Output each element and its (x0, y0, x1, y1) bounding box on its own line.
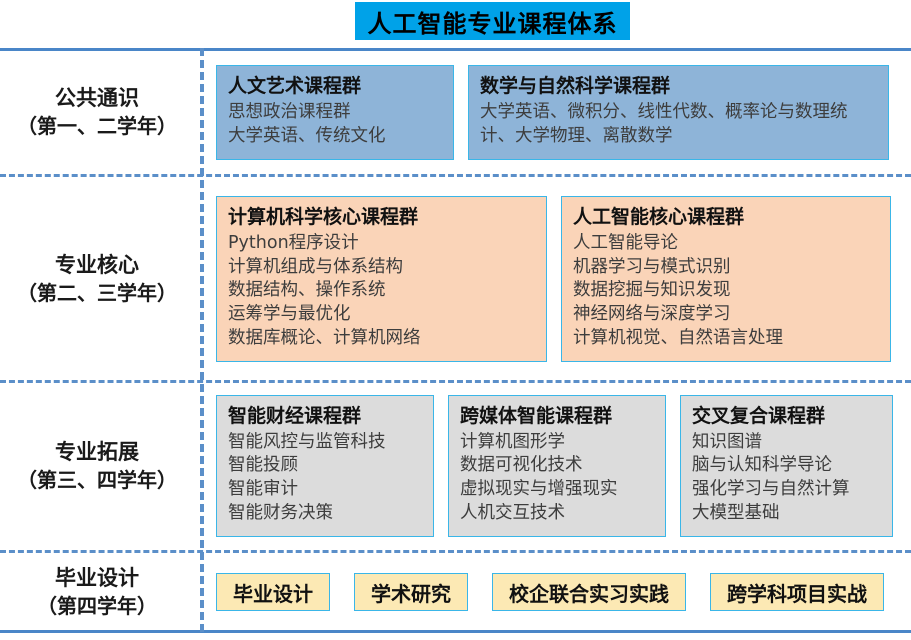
stage-row-professional-core: 专业核心 （第二、三学年） 计算机科学核心课程群 Python程序设计 计算机组… (0, 180, 911, 378)
card-course-line: 智能投顾 (228, 454, 422, 478)
stage-name: 专业拓展 (55, 440, 139, 464)
card-heading: 跨媒体智能课程群 (460, 404, 654, 429)
stage-name: 公共通识 (55, 86, 139, 110)
stage-years: （第四学年） (0, 593, 194, 621)
capstone-chip-academic-research[interactable]: 学术研究 (354, 573, 468, 611)
card-course-line: 计算机视觉、自然语言处理 (573, 327, 879, 351)
course-group-card-interdisciplinary[interactable]: 交叉复合课程群 知识图谱 脑与认知科学导论 强化学习与自然计算 大模型基础 (680, 395, 893, 537)
card-course-line: 计算机图形学 (460, 431, 654, 455)
card-course-line: 数据结构、操作系统 (228, 279, 535, 303)
stage-years: （第一、二学年） (0, 113, 194, 141)
stage-label-general-education: 公共通识 （第一、二学年） (0, 84, 200, 141)
course-group-card-computer-science-core[interactable]: 计算机科学核心课程群 Python程序设计 计算机组成与体系结构 数据结构、操作… (216, 196, 547, 361)
card-course-line: 大学英语、传统文化 (228, 125, 442, 149)
stage-name: 专业核心 (55, 253, 139, 277)
card-course-line: 智能财务决策 (228, 502, 422, 526)
card-course-line: 思想政治课程群 (228, 101, 442, 125)
stage-years: （第二、三学年） (0, 280, 194, 308)
card-course-line: 计算机组成与体系结构 (228, 256, 535, 280)
card-course-line: 大学英语、微积分、线性代数、概率论与数理统计、大学物理、离散数学 (480, 101, 877, 149)
card-course-line: 智能审计 (228, 478, 422, 502)
capstone-chip-graduation-project[interactable]: 毕业设计 (216, 573, 330, 611)
stage-label-professional-extension: 专业拓展 （第三、四学年） (0, 438, 200, 495)
card-course-line: 人工智能导论 (573, 232, 879, 256)
card-heading: 人文艺术课程群 (228, 74, 442, 99)
card-heading: 人工智能核心课程群 (573, 205, 879, 230)
rule-between-row2-row3 (0, 380, 911, 383)
course-group-card-ai-core[interactable]: 人工智能核心课程群 人工智能导论 机器学习与模式识别 数据挖掘与知识发现 神经网… (561, 196, 891, 361)
card-course-line: 知识图谱 (692, 431, 881, 455)
chip-list-capstone: 毕业设计 学术研究 校企联合实习实践 跨学科项目实战 (200, 573, 911, 611)
rule-bottom (0, 630, 911, 633)
card-course-line: 数据可视化技术 (460, 454, 654, 478)
course-group-card-math-natural-science[interactable]: 数学与自然科学课程群 大学英语、微积分、线性代数、概率论与数理统计、大学物理、离… (468, 65, 889, 159)
stage-years: （第三、四学年） (0, 467, 194, 495)
card-heading: 交叉复合课程群 (692, 404, 881, 429)
card-heading: 计算机科学核心课程群 (228, 205, 535, 230)
card-course-line: 运筹学与最优化 (228, 303, 535, 327)
stage-name: 毕业设计 (55, 566, 139, 590)
rule-between-row1-row2 (0, 174, 911, 177)
course-group-card-cross-media-intelligence[interactable]: 跨媒体智能课程群 计算机图形学 数据可视化技术 虚拟现实与增强现实 人机交互技术 (448, 395, 666, 537)
capstone-chip-interdisciplinary-project[interactable]: 跨学科项目实战 (710, 573, 884, 611)
card-course-line: 神经网络与深度学习 (573, 303, 879, 327)
course-group-card-humanities-arts[interactable]: 人文艺术课程群 思想政治课程群 大学英语、传统文化 (216, 65, 454, 159)
rule-between-row3-row4 (0, 550, 911, 553)
card-course-line: Python程序设计 (228, 232, 535, 256)
card-course-line: 机器学习与模式识别 (573, 256, 879, 280)
diagram-title: 人工智能专业课程体系 (355, 2, 630, 40)
card-course-line: 强化学习与自然计算 (692, 478, 881, 502)
card-list-professional-extension: 智能财经课程群 智能风控与监管科技 智能投顾 智能审计 智能财务决策 跨媒体智能… (200, 395, 911, 537)
stage-row-professional-extension: 专业拓展 （第三、四学年） 智能财经课程群 智能风控与监管科技 智能投顾 智能审… (0, 385, 911, 547)
card-heading: 智能财经课程群 (228, 404, 422, 429)
card-course-line: 大模型基础 (692, 502, 881, 526)
capstone-chip-industry-internship[interactable]: 校企联合实习实践 (492, 573, 686, 611)
card-course-line: 数据库概论、计算机网络 (228, 327, 535, 351)
card-course-line: 虚拟现实与增强现实 (460, 478, 654, 502)
card-list-general-education: 人文艺术课程群 思想政治课程群 大学英语、传统文化 数学与自然科学课程群 大学英… (200, 65, 911, 159)
card-course-line: 数据挖掘与知识发现 (573, 279, 879, 303)
card-course-line: 智能风控与监管科技 (228, 431, 422, 455)
stage-label-professional-core: 专业核心 （第二、三学年） (0, 251, 200, 308)
stage-label-capstone: 毕业设计 （第四学年） (0, 564, 200, 621)
course-group-card-intelligent-finance[interactable]: 智能财经课程群 智能风控与监管科技 智能投顾 智能审计 智能财务决策 (216, 395, 434, 537)
stage-row-capstone: 毕业设计 （第四学年） 毕业设计 学术研究 校企联合实习实践 跨学科项目实战 (0, 556, 911, 628)
card-list-professional-core: 计算机科学核心课程群 Python程序设计 计算机组成与体系结构 数据结构、操作… (200, 196, 911, 361)
card-heading: 数学与自然科学课程群 (480, 74, 877, 99)
curriculum-diagram: 人工智能专业课程体系 公共通识 （第一、二学年） 人文艺术课程群 思想政治课程群… (0, 0, 911, 640)
card-course-line: 人机交互技术 (460, 502, 654, 526)
stage-row-general-education: 公共通识 （第一、二学年） 人文艺术课程群 思想政治课程群 大学英语、传统文化 … (0, 51, 911, 174)
card-course-line: 脑与认知科学导论 (692, 454, 881, 478)
